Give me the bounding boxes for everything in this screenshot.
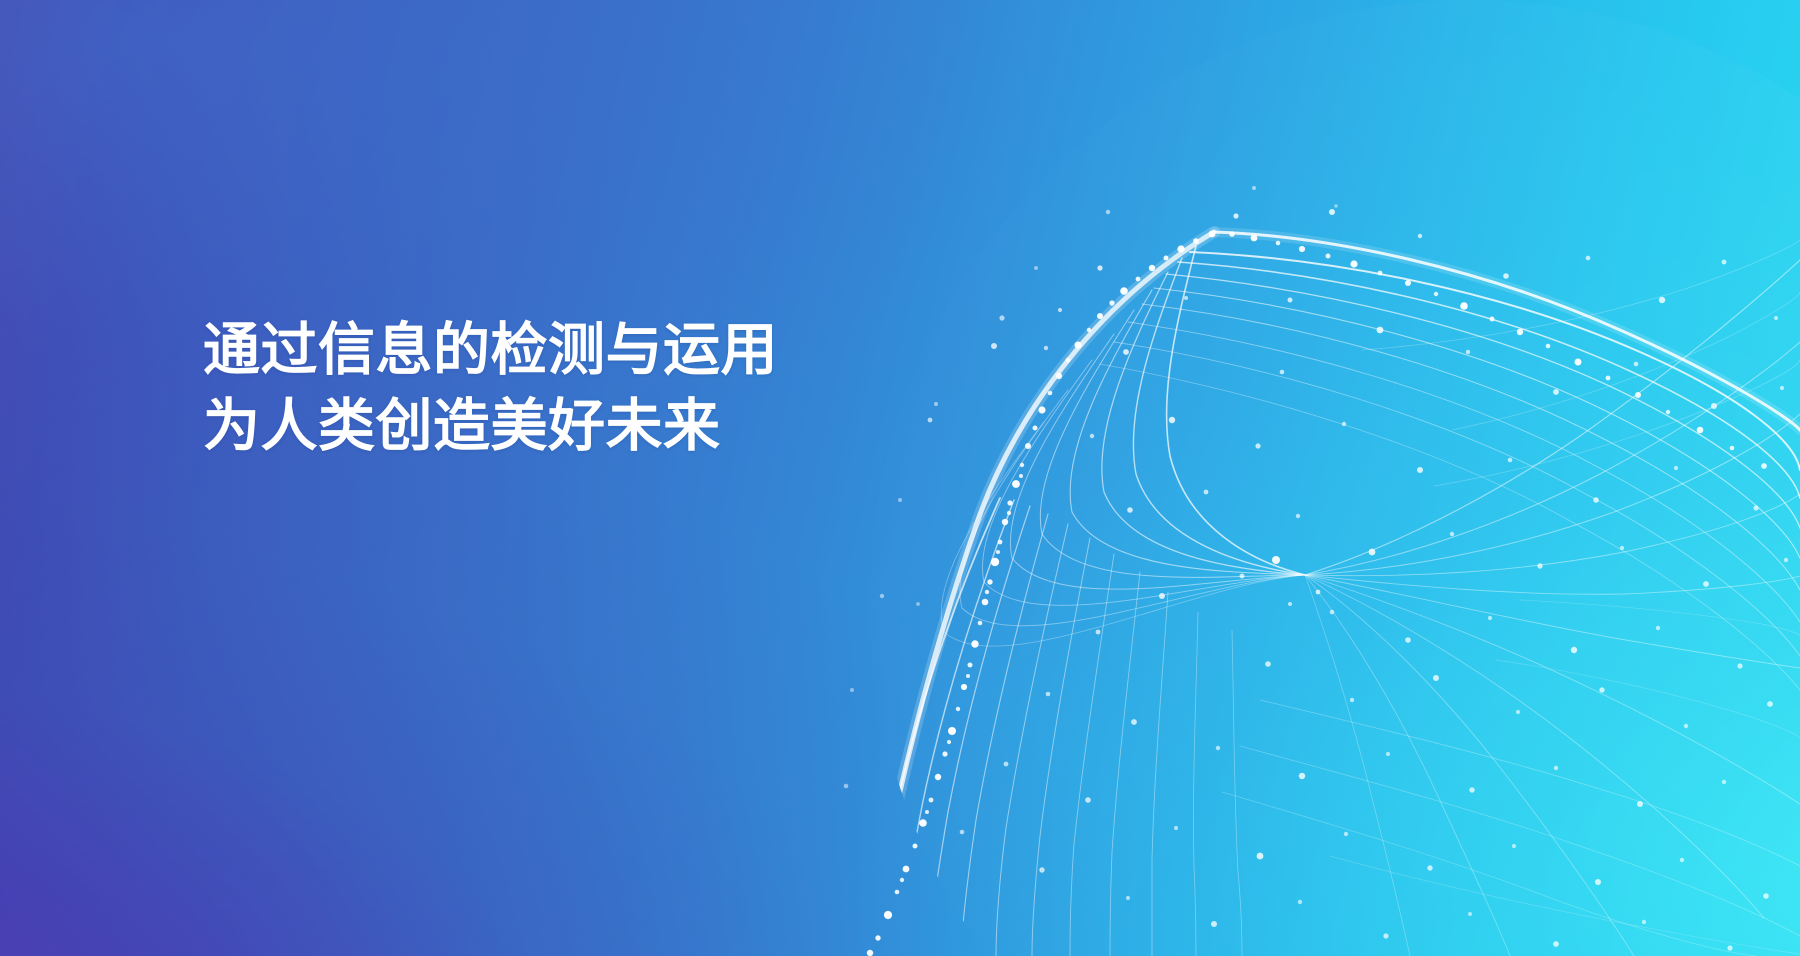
headline-block: 通过信息的检测与运用 为人类创造美好未来 — [203, 312, 1023, 464]
headline-line-2: 为人类创造美好未来 — [203, 388, 1023, 464]
hero-banner: 通过信息的检测与运用 为人类创造美好未来 — [0, 0, 1800, 956]
headline-line-1: 通过信息的检测与运用 — [203, 312, 1023, 388]
background-top-blue-glow — [0, 0, 1800, 956]
